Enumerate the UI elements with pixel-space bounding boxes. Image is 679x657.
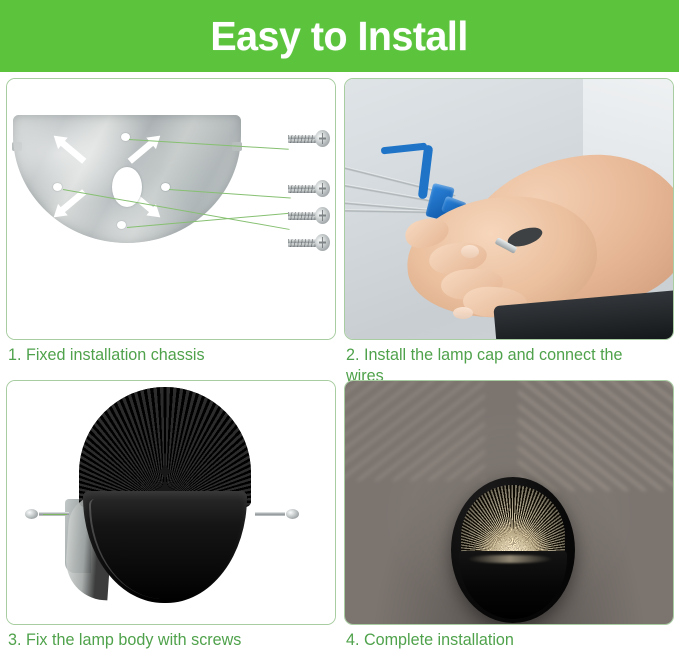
step-2: 2. Install the lamp cap and connect the … xyxy=(344,78,674,340)
lamp-body-illustration xyxy=(7,381,335,624)
screw-3-shaft xyxy=(288,212,316,220)
lamp-screw-right xyxy=(255,509,299,519)
installed-lamp xyxy=(451,477,575,623)
lamp-screw-left-head xyxy=(25,509,38,519)
screw-4 xyxy=(288,234,330,251)
mounting-plate-group xyxy=(13,115,243,245)
arrow-slot-northeast xyxy=(125,130,165,167)
lamp-dome-edge-highlight xyxy=(467,555,553,563)
screw-2-head xyxy=(315,180,330,197)
step-3-image-frame xyxy=(6,380,336,625)
step-4-image-frame xyxy=(344,380,674,625)
step-2-image-frame xyxy=(344,78,674,340)
step-3-caption: 3. Fix the lamp body with screws xyxy=(8,629,322,650)
screw-1 xyxy=(288,130,330,147)
metal-plate xyxy=(13,115,241,243)
screw-3-head xyxy=(315,207,330,224)
lamp-screw-right-shaft xyxy=(255,512,285,516)
header-banner: Easy to Install xyxy=(0,0,679,72)
screw-direction-indicator-left xyxy=(43,514,67,515)
step-4-caption: 4. Complete installation xyxy=(346,629,660,650)
screw-2-shaft xyxy=(288,185,316,193)
lamp-screw-right-head xyxy=(286,509,299,519)
plate-tab-left xyxy=(12,142,22,151)
fingernail-2 xyxy=(453,307,473,319)
step-1: 1. Fixed installation chassis xyxy=(6,78,336,340)
screw-hole-bottom xyxy=(117,221,126,229)
page-title: Easy to Install xyxy=(211,16,468,57)
step-3: 3. Fix the lamp body with screws xyxy=(6,380,336,625)
arrow-slot-northwest xyxy=(49,130,89,167)
wiring-photo xyxy=(345,79,673,339)
screw-2 xyxy=(288,180,330,197)
blue-cable-upper xyxy=(381,143,427,155)
screw-hole-left xyxy=(53,183,62,191)
wall-lamp-body xyxy=(79,387,251,605)
steps-grid: 1. Fixed installation chassis xyxy=(0,72,679,657)
screw-4-shaft xyxy=(288,239,316,247)
screw-4-head xyxy=(315,234,330,251)
lamp-dome-rim-highlight xyxy=(89,499,241,599)
screw-3 xyxy=(288,207,330,224)
arrow-slot-southwest xyxy=(49,186,89,223)
fingernail-1 xyxy=(461,245,479,258)
screw-1-head xyxy=(315,130,330,147)
screw-1-shaft xyxy=(288,135,316,143)
product-feature-image: Easy to Install xyxy=(0,0,679,657)
installed-lamp-photo xyxy=(345,381,673,624)
step-4: 4. Complete installation xyxy=(344,380,674,625)
mounting-chassis-illustration xyxy=(7,79,335,339)
step-1-caption: 1. Fixed installation chassis xyxy=(8,344,322,365)
step-1-image-frame xyxy=(6,78,336,340)
lamp-fan-fins xyxy=(79,387,251,507)
